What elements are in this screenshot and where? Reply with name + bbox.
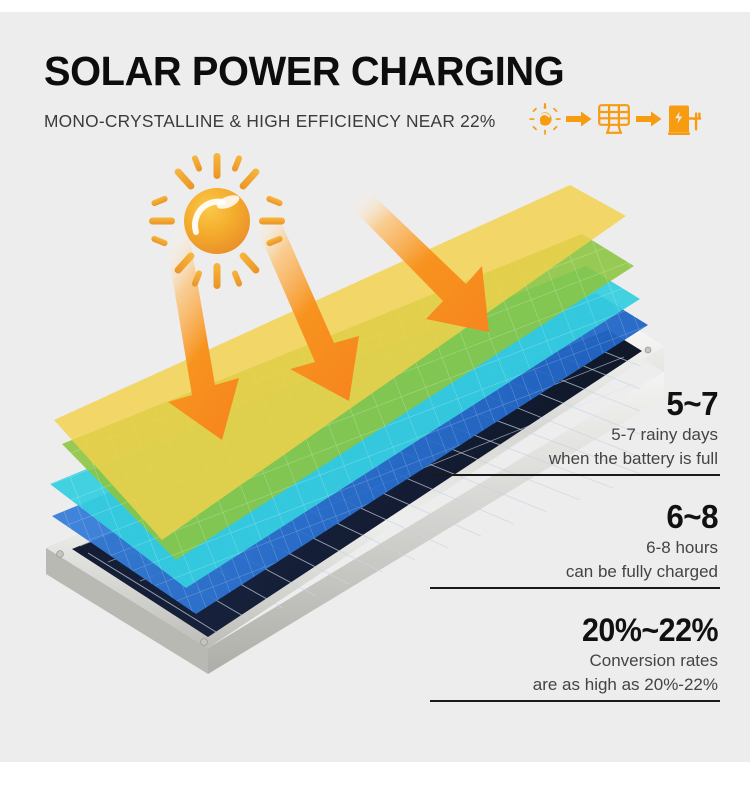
- stat-line-2: are as high as 20%-22%: [430, 673, 720, 700]
- stat-line-2: when the battery is full: [430, 447, 720, 474]
- infographic-root: SOLAR POWER CHARGING MONO-CRYSTALLINE & …: [0, 0, 750, 788]
- page-title: SOLAR POWER CHARGING: [44, 48, 564, 94]
- stat-value: 5~7: [445, 385, 721, 423]
- stat-value: 6~8: [445, 498, 721, 536]
- stat-item: 20%~22% Conversion rates are as high as …: [430, 611, 720, 702]
- stat-line-2: can be fully charged: [430, 560, 720, 587]
- sun-icon: [528, 102, 562, 136]
- stat-value: 20%~22%: [445, 611, 721, 649]
- arrow-right-icon: [566, 109, 592, 129]
- arrow-right-icon: [636, 109, 662, 129]
- stat-line-1: 5-7 rainy days: [430, 423, 720, 447]
- sun-icon: [146, 150, 288, 292]
- stat-item: 6~8 6-8 hours can be fully charged: [430, 498, 720, 589]
- stat-line-1: Conversion rates: [430, 649, 720, 673]
- process-flow: [528, 98, 720, 140]
- stat-divider: [430, 587, 720, 589]
- stats-list: 5~7 5-7 rainy days when the battery is f…: [430, 385, 720, 724]
- ev-charging-station-icon: [666, 101, 702, 137]
- light-arrow: [350, 190, 489, 332]
- stat-divider: [430, 700, 720, 702]
- stat-divider: [430, 474, 720, 476]
- solar-panel-icon: [596, 102, 632, 136]
- stat-item: 5~7 5-7 rainy days when the battery is f…: [430, 385, 720, 476]
- stat-line-1: 6-8 hours: [430, 536, 720, 560]
- page-subtitle: MONO-CRYSTALLINE & HIGH EFFICIENCY NEAR …: [44, 110, 496, 132]
